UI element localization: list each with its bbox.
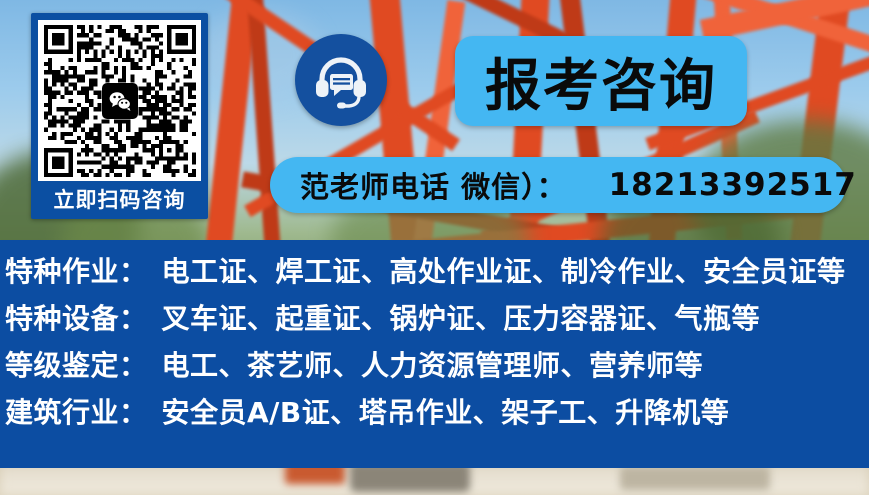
category-items: 电工证、焊工证、高处作业证、制冷作业、安全员证等 [162, 250, 846, 290]
category-label: 建筑行业： [5, 391, 148, 431]
headline-pill: 报考咨询 [455, 36, 747, 126]
category-items: 叉车证、起重证、锅炉证、压力容器证、气瓶等 [162, 297, 761, 337]
headset-chat-icon [295, 34, 387, 126]
foreground-object [620, 466, 770, 490]
category-row-construction-industry: 建筑行业： 安全员A/B证、塔吊作业、架子工、升降机等 [0, 391, 869, 438]
category-list-panel: 特种作业： 电工证、焊工证、高处作业证、制冷作业、安全员证等 特种设备： 叉车证… [0, 240, 869, 468]
contact-phone-number[interactable]: 18213392517 [609, 167, 857, 203]
category-row-grade-certification: 等级鉴定： 电工、茶艺师、人力资源管理师、营养师等 [0, 344, 869, 391]
category-items: 安全员A/B证、塔吊作业、架子工、升降机等 [162, 391, 730, 431]
qr-card-caption: 立即扫码咨询 [54, 184, 186, 216]
headline-text: 报考咨询 [485, 41, 717, 122]
promo-banner: 立即扫码咨询 报考咨询 范老师电话 微信）： 18213392517 [0, 0, 869, 495]
category-row-special-equipment: 特种设备： 叉车证、起重证、锅炉证、压力容器证、气瓶等 [0, 297, 869, 344]
category-items: 电工、茶艺师、人力资源管理师、营养师等 [162, 344, 704, 384]
category-label: 特种设备： [5, 297, 148, 337]
category-label: 等级鉴定： [5, 344, 148, 384]
qr-code-image[interactable] [38, 20, 201, 181]
wechat-logo-icon [102, 83, 138, 119]
category-label: 特种作业： [5, 250, 148, 290]
contact-pill[interactable]: 范老师电话 微信）： 18213392517 [270, 157, 846, 213]
category-row-special-operations: 特种作业： 电工证、焊工证、高处作业证、制冷作业、安全员证等 [0, 250, 869, 297]
contact-label: 范老师电话 微信）： [300, 164, 567, 206]
qr-code-card[interactable]: 立即扫码咨询 [31, 13, 208, 219]
